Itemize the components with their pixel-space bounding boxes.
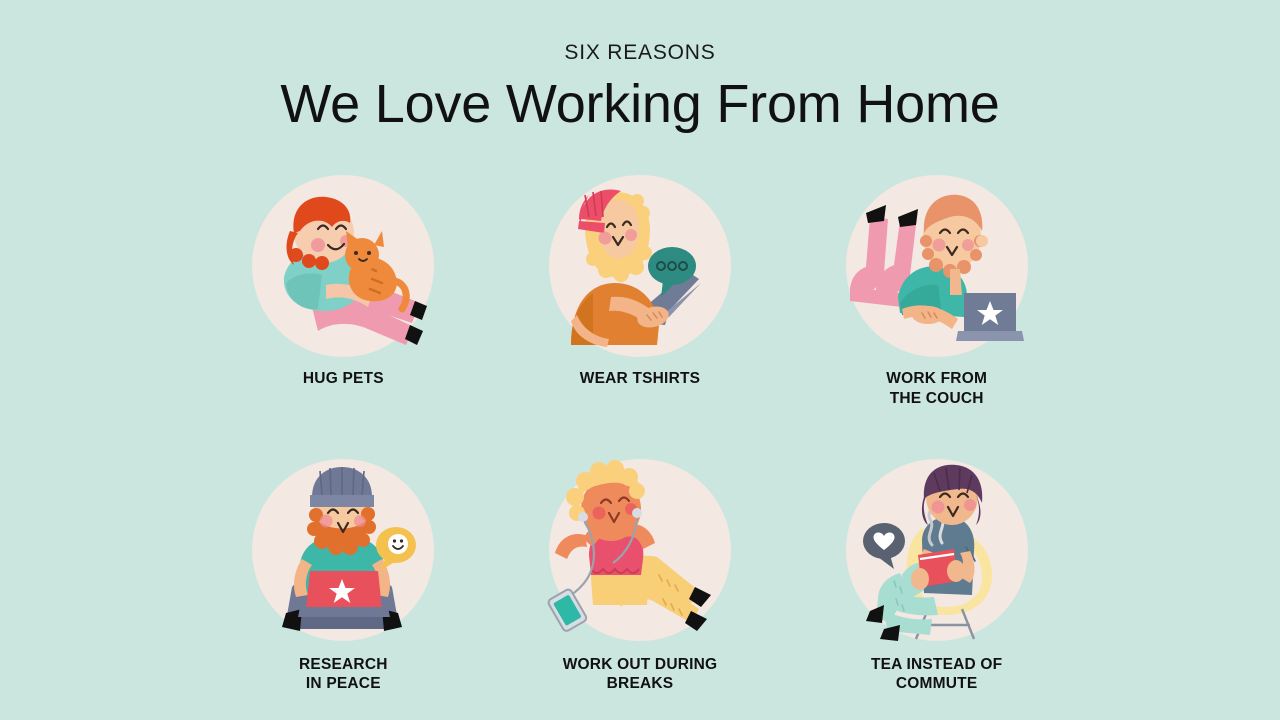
- person-doing-situps-headphones-icon: [549, 459, 731, 641]
- reason-label: RESEARCH IN PEACE: [299, 655, 388, 695]
- illustration-work-from-the-couch: [846, 175, 1028, 357]
- illustration-hug-pets: [252, 175, 434, 357]
- illustration-work-out-during-breaks: [549, 459, 731, 641]
- reason-card-hug-pets[interactable]: HUG PETS: [195, 175, 492, 409]
- person-hugging-cat-icon: [252, 175, 434, 357]
- reason-card-research-in-peace[interactable]: RESEARCH IN PEACE: [195, 459, 492, 695]
- phone-device: [547, 588, 588, 632]
- page-title: We Love Working From Home: [0, 73, 1280, 135]
- reason-label: WEAR TSHIRTS: [580, 369, 700, 389]
- reason-label: HUG PETS: [303, 369, 384, 389]
- reason-card-work-from-the-couch[interactable]: WORK FROM THE COUCH: [788, 175, 1085, 409]
- person-lying-down-laptop-icon: [846, 175, 1028, 357]
- reason-card-wear-tshirts[interactable]: WEAR TSHIRTS: [492, 175, 789, 409]
- reason-label: TEA INSTEAD OF COMMUTE: [871, 655, 1002, 695]
- reason-card-tea-instead-of-commute[interactable]: TEA INSTEAD OF COMMUTE: [788, 459, 1085, 695]
- reason-card-work-out-during-breaks[interactable]: WORK OUT DURING BREAKS: [492, 459, 789, 695]
- chat-bubble-heart: [863, 523, 905, 569]
- illustration-wear-tshirts: [549, 175, 731, 357]
- reasons-grid: HUG PETS: [195, 175, 1085, 694]
- illustration-research-in-peace: [252, 459, 434, 641]
- reason-label: WORK FROM THE COUCH: [886, 369, 987, 409]
- eyebrow-text: SIX REASONS: [0, 42, 1280, 63]
- page-header: SIX REASONS We Love Working From Home: [0, 0, 1280, 135]
- bearded-person-laptop-beanie-icon: [549, 175, 731, 357]
- illustration-tea-instead-of-commute: [846, 459, 1028, 641]
- reason-label: WORK OUT DURING BREAKS: [563, 655, 718, 695]
- person-sitting-crosslegged-laptop-icon: [252, 459, 434, 641]
- person-in-chair-with-mug-icon: [846, 459, 1028, 641]
